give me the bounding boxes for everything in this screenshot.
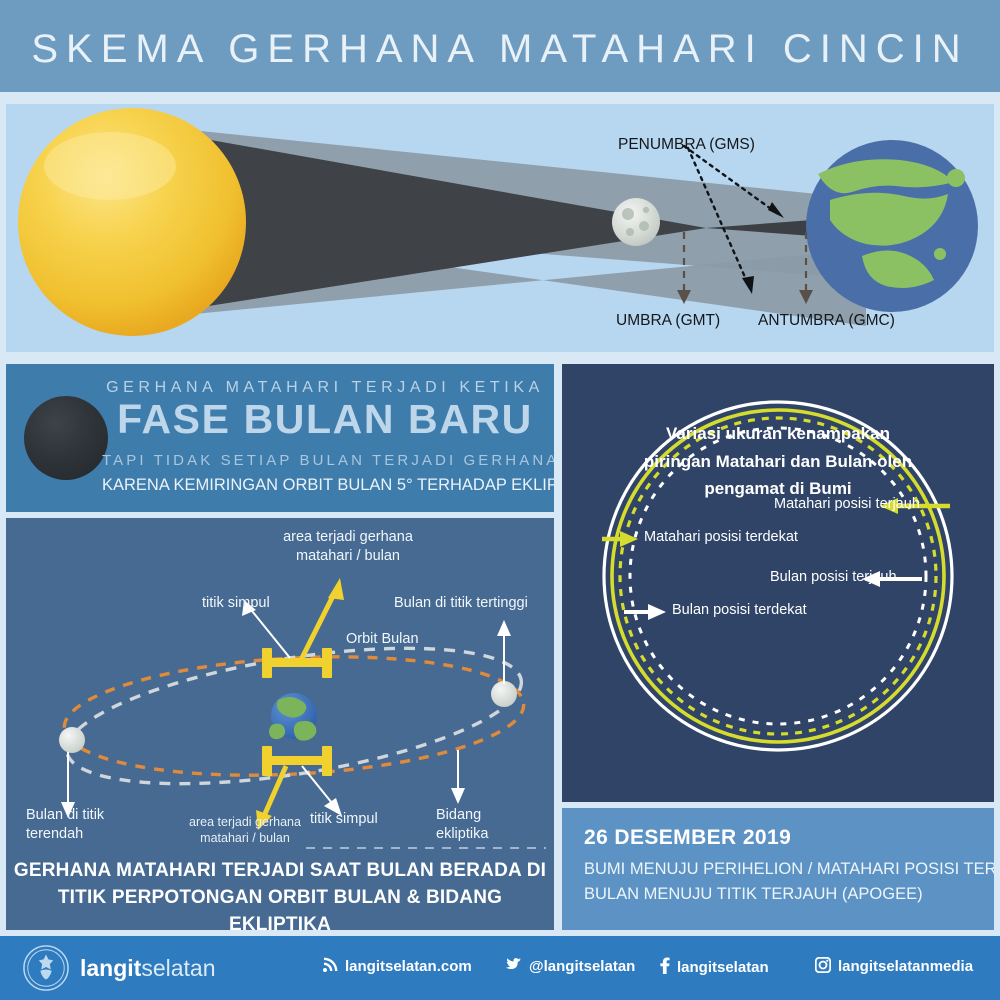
social-twitter[interactable]: @langitselatan	[505, 957, 635, 977]
label-bulan-terendah: Bulan di titik terendah	[26, 806, 104, 844]
social-website-label: langitselatan.com	[345, 958, 472, 975]
sun-highlight	[44, 132, 176, 200]
moon-highest-icon	[491, 681, 517, 707]
label-bulan-tertinggi: Bulan di titik tertinggi	[394, 594, 528, 613]
label-eclipse-area-top-1: area terjadi gerhana	[268, 528, 428, 547]
label-bulan-terendah-1: Bulan di titik	[26, 806, 104, 825]
orbit-footer-line-2: TITIK PERPOTONGAN ORBIT BULAN & BIDANG E…	[6, 885, 554, 930]
social-facebook[interactable]: langitselatan	[660, 957, 769, 978]
orbit-panel-footer-text: GERHANA MATAHARI TERJADI SAAT BULAN BERA…	[6, 858, 554, 930]
social-twitter-label: @langitselatan	[529, 958, 635, 975]
fase-line-3: TAPI TIDAK SETIAP BULAN TERJADI GERHANA	[102, 452, 548, 469]
brand-light: selatan	[141, 955, 215, 981]
apparent-disk-size-panel: Variasi ukuran kenampakan piringan Matah…	[562, 364, 994, 802]
moon-lowest-icon	[59, 727, 85, 753]
social-instagram-label: langitselatanmedia	[838, 958, 973, 975]
social-website[interactable]: langitselatan.com	[322, 957, 472, 977]
moon-icon	[612, 198, 660, 246]
label-bidang-ekliptika: Bidang ekliptika	[436, 806, 488, 844]
label-eclipse-area-bottom-1: area terjadi gerhana	[186, 814, 304, 830]
event-date: 26 DESEMBER 2019	[584, 826, 791, 850]
label-bulan-terdekat: Bulan posisi terdekat	[672, 602, 807, 618]
page-title: SKEMA GERHANA MATAHARI CINCIN	[0, 27, 1000, 72]
earth-small-icon	[269, 693, 317, 741]
eclipse-geometry-panel: PENUMBRA (GMS) UMBRA (GMT) ANTUMBRA (GMC…	[6, 104, 994, 352]
event-detail-line-2: BULAN MENUJU TITIK TERJAUH (APOGEE)	[584, 885, 923, 904]
instagram-icon	[815, 957, 831, 977]
label-orbit-bulan: Orbit Bulan	[346, 630, 419, 649]
brand-wordmark: langitselatan	[80, 955, 216, 982]
earth-icon	[806, 140, 978, 312]
facebook-icon	[660, 957, 670, 978]
highest-moon-leader	[497, 620, 511, 684]
circle-title-line-2: piringan Matahari dan Bulan oleh	[608, 448, 948, 476]
langitselatan-logo-icon	[22, 944, 70, 992]
fase-line-4: KARENA KEMIRINGAN ORBIT BULAN 5° TERHADA…	[102, 476, 548, 495]
infographic-page: SKEMA GERHANA MATAHARI CINCIN	[0, 0, 1000, 1000]
label-antumbra: ANTUMBRA (GMC)	[758, 312, 895, 330]
brand-bold: langit	[80, 955, 141, 981]
event-date-panel: 26 DESEMBER 2019 BUMI MENUJU PERIHELION …	[562, 808, 994, 930]
eclipse-area-arrow-top	[298, 578, 344, 666]
social-facebook-label: langitselatan	[677, 959, 769, 976]
new-moon-icon	[24, 396, 108, 480]
label-bulan-terjauh: Bulan posisi terjauh	[770, 569, 897, 585]
fase-headline: FASE BULAN BARU	[102, 398, 548, 441]
header-bar: SKEMA GERHANA MATAHARI CINCIN	[0, 0, 1000, 92]
orbit-footer-line-1: GERHANA MATAHARI TERJADI SAAT BULAN BERA…	[6, 858, 554, 885]
fase-line-1: GERHANA MATAHARI TERJADI KETIKA	[102, 379, 548, 397]
circle-title-line-1: Variasi ukuran kenampakan	[608, 420, 948, 448]
label-eclipse-area-bottom: area terjadi gerhana matahari / bulan	[186, 814, 304, 847]
label-titik-simpul-bottom: titik simpul	[310, 810, 378, 829]
label-umbra: UMBRA (GMT)	[616, 312, 720, 330]
label-matahari-terdekat: Matahari posisi terdekat	[644, 529, 798, 545]
label-bidang-ekliptika-1: Bidang	[436, 806, 488, 825]
circle-panel-title: Variasi ukuran kenampakan piringan Matah…	[608, 420, 948, 503]
twitter-icon	[505, 957, 522, 977]
label-matahari-terjauh: Matahari posisi terjauh	[774, 496, 920, 512]
label-titik-simpul-top: titik simpul	[202, 594, 270, 613]
label-eclipse-area-bottom-2: matahari / bulan	[186, 830, 304, 846]
arrow-moon-nearest	[624, 604, 666, 620]
rss-icon	[322, 957, 338, 977]
social-instagram[interactable]: langitselatanmedia	[815, 957, 973, 977]
label-penumbra: PENUMBRA (GMS)	[618, 136, 755, 154]
moon-orbit-panel: area terjadi gerhana matahari / bulan ti…	[6, 518, 554, 930]
label-bulan-terendah-2: terendah	[26, 825, 104, 844]
ecliptic-label-leader	[451, 750, 465, 804]
event-detail-line-1: BUMI MENUJU PERIHELION / MATAHARI POSISI…	[584, 860, 994, 879]
footer-bar: langitselatan langitselatan.com @langits…	[0, 936, 1000, 1000]
label-bidang-ekliptika-2: ekliptika	[436, 825, 488, 844]
label-eclipse-area-top-2: matahari / bulan	[268, 547, 428, 566]
new-moon-phase-panel: GERHANA MATAHARI TERJADI KETIKA FASE BUL…	[6, 364, 554, 512]
